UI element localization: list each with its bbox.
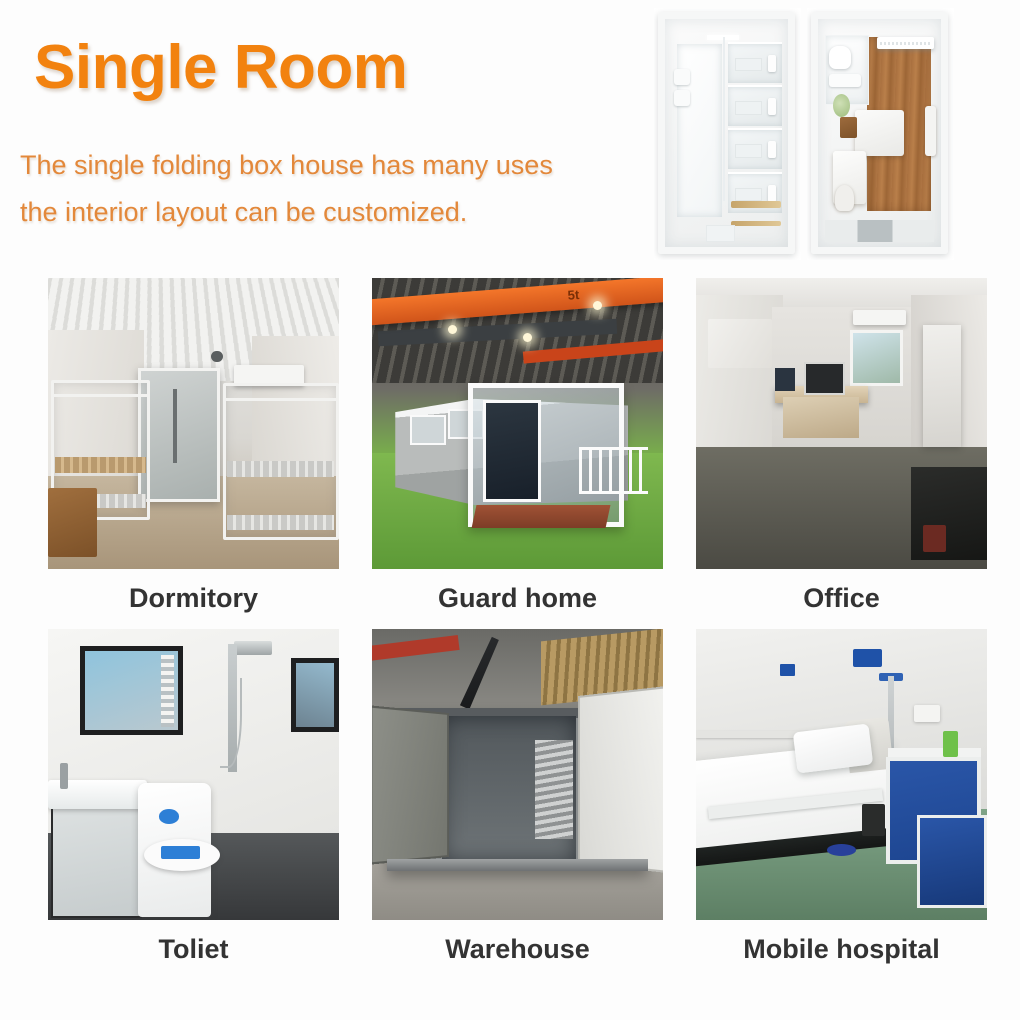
sink-fixture [674,69,690,85]
gallery-caption: Guard home [372,579,663,617]
wooden-deck [471,505,610,528]
use-case-gallery: Dormitory 5t [48,278,986,968]
railing [579,447,649,494]
gallery-caption: Mobile hospital [696,930,987,968]
gallery-caption: Toliet [48,930,339,968]
bathroom-area [825,35,869,105]
entry-door [483,400,541,502]
gallery-caption: Office [696,579,987,617]
base-rail [387,859,649,871]
bunk-bed [223,383,339,540]
page-subtitle: The single folding box house has many us… [20,142,553,236]
gallery-row-1: Dormitory 5t [48,278,986,617]
gallery-item-mobile-hospital[interactable]: Mobile hospital [696,629,987,968]
gallery-item-office[interactable]: Office [696,278,987,617]
toilet-photo[interactable] [48,629,339,920]
subtitle-line-1: The single folding box house has many us… [20,142,553,189]
warehouse-photo[interactable] [372,629,663,920]
cubicle-room [728,42,782,83]
office-photo[interactable] [696,278,987,569]
panel-door-right [578,686,663,873]
cubicle-room [728,128,782,169]
computer-monitor [804,362,846,395]
window [291,658,339,732]
wooden-chair [48,488,97,558]
toilet-seat [144,839,220,871]
bedroom-floor-plan [807,8,954,260]
computer-tower [775,368,795,391]
pillow [925,106,936,156]
floor-plan-images [654,8,954,260]
gallery-caption: Dormitory [48,579,339,617]
gallery-item-toilet[interactable]: Toliet [48,629,339,968]
storage-cabinet [923,325,961,447]
gallery-row-2: Toliet Warehouse [48,629,986,968]
shower-head [234,641,272,656]
panel-door-left [372,706,449,865]
wall-sign [853,649,882,666]
camera-icon [211,351,223,363]
entry-door [706,225,735,243]
wall-sign [780,664,795,676]
shower-cubicle [138,368,220,502]
air-conditioner [877,37,934,48]
power-outlet [914,705,940,722]
dormitory-photo[interactable] [48,278,339,569]
entry-mat [825,220,933,243]
vanity-cabinet [51,792,142,918]
window [850,330,903,385]
blue-cabinet [917,815,987,908]
wood-counter [731,221,780,226]
air-conditioner [853,310,905,325]
gallery-item-guard-home[interactable]: 5t Guard home [372,278,663,617]
faucet [60,763,69,789]
plant-decoration [833,94,850,117]
window [80,646,183,735]
toilet-fixture [829,46,851,69]
stairs [535,740,573,839]
desk-furniture [840,117,857,138]
bucket [923,525,946,551]
bed-furniture [855,110,904,156]
crane-capacity-label: 5t [567,286,580,302]
gallery-item-warehouse[interactable]: Warehouse [372,629,663,968]
gallery-caption: Warehouse [372,930,663,968]
white-layout-floor-plan [654,8,801,260]
subtitle-line-2: the interior layout can be customized. [20,189,553,236]
spray-bottle [943,731,958,757]
cubicle-room [728,85,782,126]
mobile-hospital-photo[interactable] [696,629,987,920]
page-title: Single Room [34,32,407,103]
waste-bin [862,804,885,836]
guard-home-photo[interactable]: 5t [372,278,663,569]
product-feature-page: Single Room The single folding box house… [0,0,1020,1020]
gallery-item-dormitory[interactable]: Dormitory [48,278,339,617]
vanity-fixture [829,74,861,88]
wood-counter [731,201,780,208]
wall-panel [708,319,772,368]
sink-fixture [674,90,690,106]
armchair-furniture [835,185,853,210]
